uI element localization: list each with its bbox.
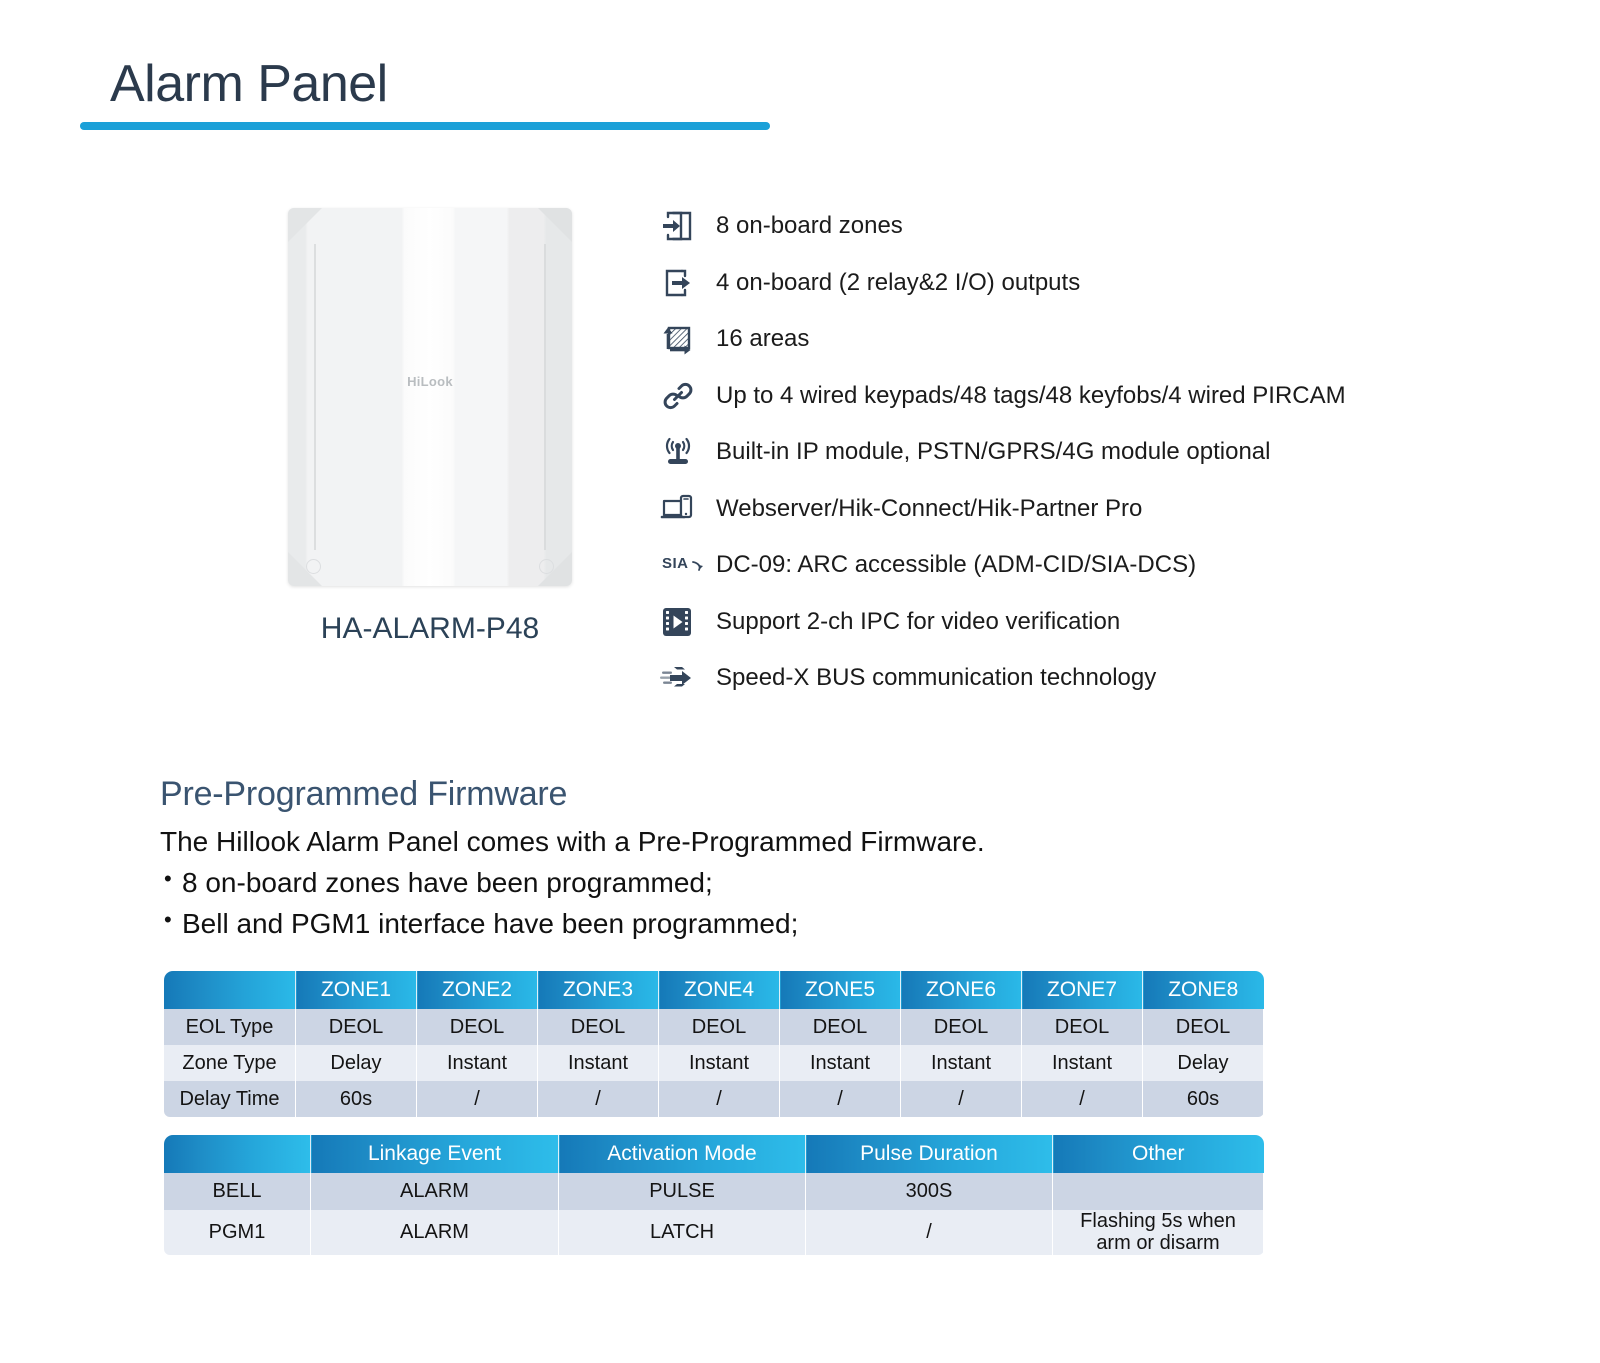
zone-configuration-table: ZONE1 ZONE2 ZONE3 ZONE4 ZONE5 ZONE6 ZONE… [163,971,1264,1117]
feature-item: 16 areas [660,311,1560,368]
cell: Instant [1022,1045,1143,1081]
column-header-pulse-duration: Pulse Duration [806,1135,1053,1173]
cell: ALARM [311,1210,559,1255]
cell [1053,1173,1264,1210]
feature-item: 4 on-board (2 relay&2 I/O) outputs [660,255,1560,312]
feature-list: 8 on-board zones 4 on-board (2 relay&2 I… [660,198,1560,707]
output-configuration-table: Linkage Event Activation Mode Pulse Dura… [163,1135,1264,1255]
slide-page: Alarm Panel HiLook HA-ALARM-P48 [0,0,1600,1363]
cell: / [1022,1081,1143,1117]
cell: DEOL [1022,1009,1143,1045]
zone-table-corner [164,971,296,1009]
section-heading: Pre-Programmed Firmware [160,775,1460,814]
column-header-zone5: ZONE5 [780,971,901,1009]
firmware-bullet: 8 on-board zones have been programmed; [160,867,1460,899]
alarm-panel-device-image: HiLook [288,208,572,586]
feature-label: 4 on-board (2 relay&2 I/O) outputs [716,269,1080,297]
cell: Delay [1143,1045,1264,1081]
column-header-linkage-event: Linkage Event [311,1135,559,1173]
feature-item: 8 on-board zones [660,198,1560,255]
column-header-zone3: ZONE3 [538,971,659,1009]
column-header-activation-mode: Activation Mode [559,1135,806,1173]
bell-table-corner [164,1135,311,1173]
cell: Instant [901,1045,1022,1081]
feature-label: DC-09: ARC accessible (ADM-CID/SIA-DCS) [716,551,1196,579]
cell: 60s [1143,1081,1264,1117]
cell: PULSE [559,1173,806,1210]
cell: Instant [659,1045,780,1081]
cell: DEOL [659,1009,780,1045]
feature-label: Webserver/Hik-Connect/Hik-Partner Pro [716,495,1142,523]
row-label: Delay Time [164,1081,296,1117]
cell: / [417,1081,538,1117]
table-row: Zone Type Delay Instant Instant Instant … [164,1045,1264,1081]
feature-item: Built-in IP module, PSTN/GPRS/4G module … [660,424,1560,481]
product-figure: HiLook HA-ALARM-P48 [280,200,580,670]
video-play-icon [660,605,716,639]
sia-logo-icon: SIA [660,550,716,580]
column-header-zone7: ZONE7 [1022,971,1143,1009]
link-chain-icon [660,378,716,414]
cell: LATCH [559,1210,806,1255]
feature-label: Built-in IP module, PSTN/GPRS/4G module … [716,438,1270,466]
cell: / [901,1081,1022,1117]
area-expand-icon [660,321,716,357]
cell: 60s [296,1081,417,1117]
cell: ALARM [311,1173,559,1210]
row-label: Zone Type [164,1045,296,1081]
column-header-zone2: ZONE2 [417,971,538,1009]
column-header-zone8: ZONE8 [1143,971,1264,1009]
feature-label: Speed-X BUS communication technology [716,664,1156,692]
cell: DEOL [538,1009,659,1045]
cell: DEOL [296,1009,417,1045]
cell: Instant [417,1045,538,1081]
device-groove-right [544,244,546,550]
column-header-zone4: ZONE4 [659,971,780,1009]
product-model-label: HA-ALARM-P48 [280,612,580,646]
column-header-zone6: ZONE6 [901,971,1022,1009]
feature-item: Webserver/Hik-Connect/Hik-Partner Pro [660,481,1560,538]
page-title-block: Alarm Panel [80,60,780,140]
device-corner-top-left [288,208,322,242]
feature-label: Support 2-ch IPC for video verification [716,608,1120,636]
table-header-row: ZONE1 ZONE2 ZONE3 ZONE4 ZONE5 ZONE6 ZONE… [164,971,1264,1009]
device-screw-right [539,559,554,574]
cell: Delay [296,1045,417,1081]
cell: DEOL [901,1009,1022,1045]
cell: / [806,1210,1053,1255]
row-label: BELL [164,1173,311,1210]
cell: / [538,1081,659,1117]
svg-text:SIA: SIA [662,555,689,572]
cell: DEOL [780,1009,901,1045]
device-groove-left [314,244,316,550]
table-header-row: Linkage Event Activation Mode Pulse Dura… [164,1135,1264,1173]
firmware-section: Pre-Programmed Firmware The Hillook Alar… [160,775,1460,940]
laptop-phone-icon [660,491,716,527]
cell: 300S [806,1173,1053,1210]
cell: DEOL [417,1009,538,1045]
table-row: EOL Type DEOL DEOL DEOL DEOL DEOL DEOL D… [164,1009,1264,1045]
feature-item: SIA DC-09: ARC accessible (ADM-CID/SIA-D… [660,537,1560,594]
feature-label: Up to 4 wired keypads/48 tags/48 keyfobs… [716,382,1346,410]
row-label: EOL Type [164,1009,296,1045]
export-output-icon [660,265,716,301]
page-title: Alarm Panel [110,54,388,114]
feature-label: 16 areas [716,325,809,353]
firmware-bullet: Bell and PGM1 interface have been progra… [160,908,1460,940]
cell: / [659,1081,780,1117]
row-label: PGM1 [164,1210,311,1255]
cell: / [780,1081,901,1117]
import-zone-icon [660,208,716,244]
feature-item: Support 2-ch IPC for video verification [660,594,1560,651]
speed-arrow-icon [660,662,716,694]
column-header-other: Other [1053,1135,1264,1173]
feature-item: Speed-X BUS communication technology [660,650,1560,707]
cell: Instant [780,1045,901,1081]
feature-label: 8 on-board zones [716,212,903,240]
device-brand-logo: HiLook [288,374,572,389]
cell: Instant [538,1045,659,1081]
antenna-signal-icon [660,434,716,470]
column-header-zone1: ZONE1 [296,971,417,1009]
firmware-intro: The Hillook Alarm Panel comes with a Pre… [160,826,1460,858]
feature-item: Up to 4 wired keypads/48 tags/48 keyfobs… [660,368,1560,425]
title-underline-rule [80,122,770,130]
cell: DEOL [1143,1009,1264,1045]
device-corner-top-right [538,208,572,242]
table-row: PGM1 ALARM LATCH / Flashing 5s whenarm o… [164,1210,1264,1255]
table-row: BELL ALARM PULSE 300S [164,1173,1264,1210]
cell: Flashing 5s whenarm or disarm [1053,1210,1264,1255]
device-screw-left [306,559,321,574]
table-row: Delay Time 60s / / / / / / 60s [164,1081,1264,1117]
